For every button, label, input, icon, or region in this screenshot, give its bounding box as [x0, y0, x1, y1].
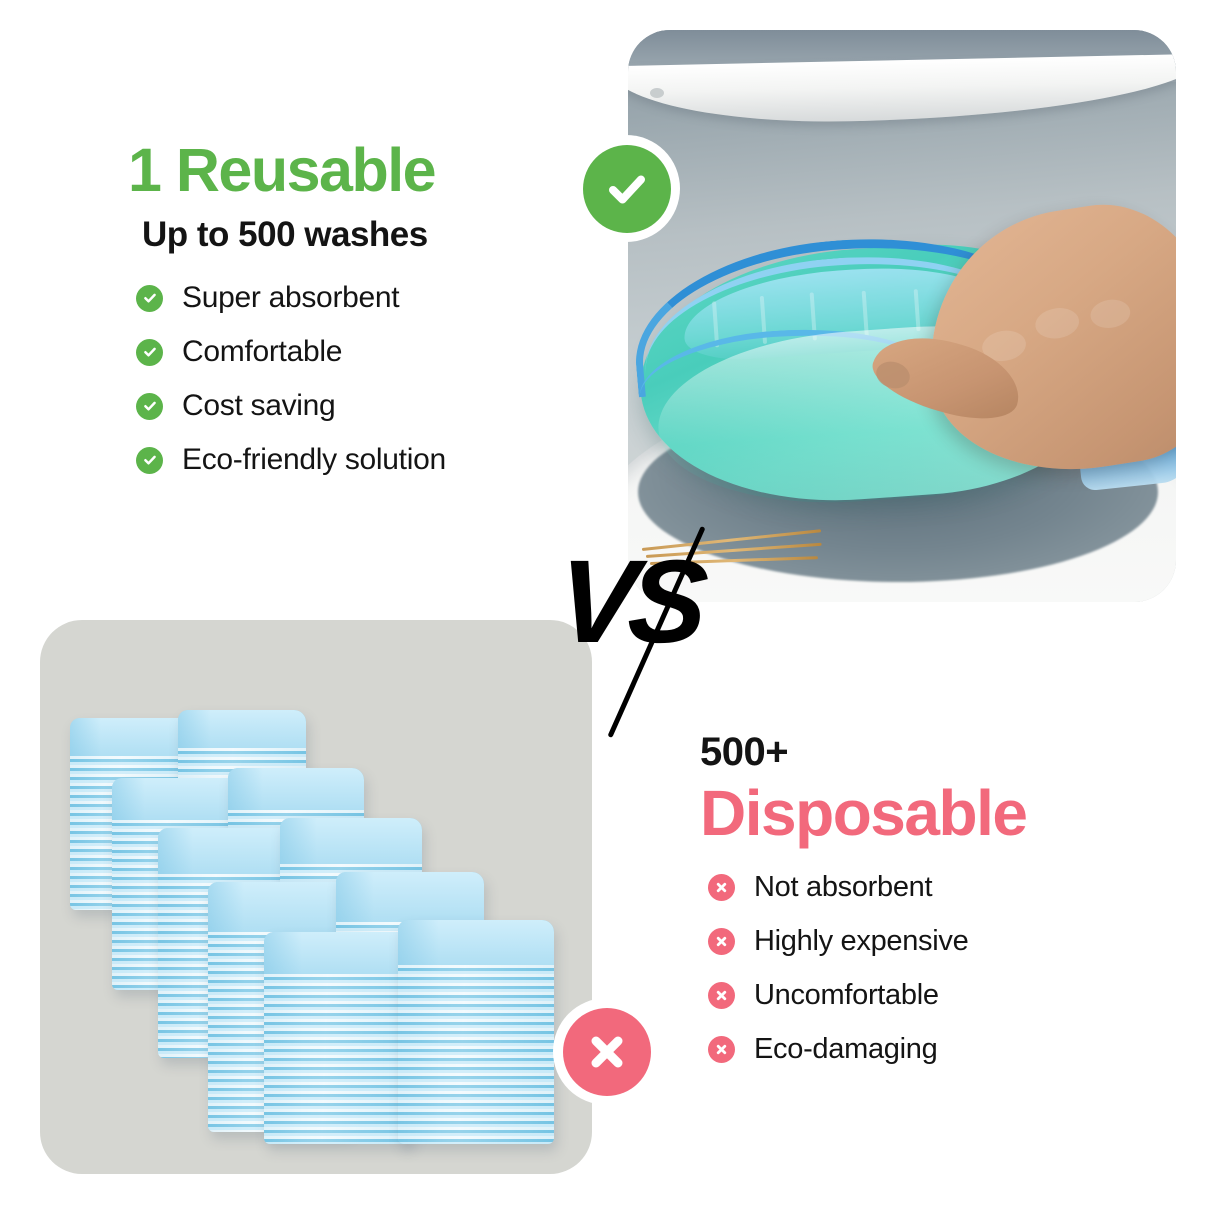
disposable-count: 500+ — [700, 730, 1170, 775]
list-item: Eco-friendly solution — [136, 443, 598, 477]
reusable-subheading: Up to 500 washes — [142, 215, 598, 255]
disposable-text-block: 500+ Disposable Not absorbent Highly exp… — [700, 730, 1170, 1087]
versus-label: VS — [554, 543, 704, 661]
drawback-label: Uncomfortable — [754, 979, 939, 1012]
list-item: Eco-damaging — [708, 1033, 1170, 1066]
check-circle-icon — [136, 447, 163, 474]
x-circle-icon — [708, 1036, 735, 1063]
x-circle-icon — [563, 1008, 651, 1096]
check-circle-icon — [136, 285, 163, 312]
list-item: Cost saving — [136, 389, 598, 423]
disposable-drawback-list: Not absorbent Highly expensive Uncomfort… — [708, 871, 1170, 1066]
reusable-heading: 1 Reusable — [128, 140, 598, 201]
reusable-text-block: 1 Reusable Up to 500 washes Super absorb… — [128, 140, 598, 497]
infographic-canvas: VS 1 Reusable Up to 500 washes Super abs… — [0, 0, 1214, 1214]
versus-divider: VS — [540, 495, 700, 735]
drawback-label: Eco-damaging — [754, 1033, 937, 1066]
feature-label: Comfortable — [182, 335, 342, 369]
list-item: Comfortable — [136, 335, 598, 369]
x-circle-icon — [708, 928, 735, 955]
reusable-product-photo — [628, 30, 1176, 602]
list-item: Super absorbent — [136, 281, 598, 315]
drawback-label: Highly expensive — [754, 925, 968, 958]
reusable-feature-list: Super absorbent Comfortable Cost saving — [136, 281, 598, 477]
disposable-rejected-badge — [553, 998, 660, 1105]
x-circle-icon — [708, 874, 735, 901]
list-item: Highly expensive — [708, 925, 1170, 958]
list-item: Not absorbent — [708, 871, 1170, 904]
disposable-heading: Disposable — [700, 781, 1170, 845]
feature-label: Eco-friendly solution — [182, 443, 446, 477]
check-circle-icon — [136, 393, 163, 420]
x-circle-icon — [708, 982, 735, 1009]
feature-label: Cost saving — [182, 389, 335, 423]
washer-lid-notch — [650, 88, 664, 98]
feature-label: Super absorbent — [182, 281, 399, 315]
disposable-pad-stacks — [40, 620, 592, 1174]
drawback-label: Not absorbent — [754, 871, 932, 904]
check-circle-icon — [136, 339, 163, 366]
disposable-product-photo — [40, 620, 592, 1174]
list-item: Uncomfortable — [708, 979, 1170, 1012]
